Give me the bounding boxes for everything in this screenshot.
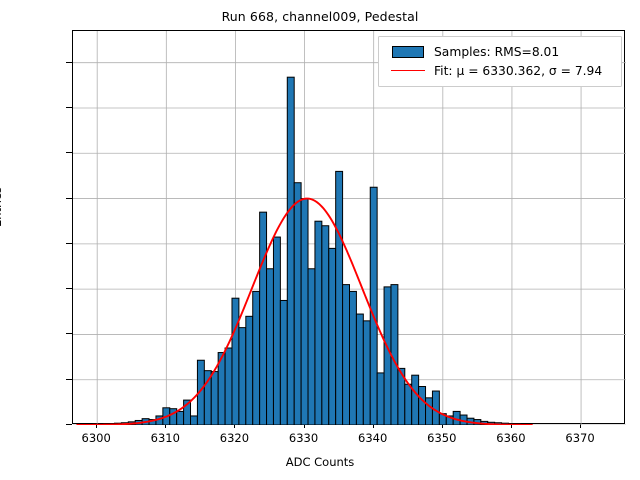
histogram-svg: [73, 31, 626, 425]
histogram-bar: [363, 321, 370, 425]
legend-item-samples: Samples: RMS=8.01: [386, 42, 614, 61]
x-tick-label: 6350: [407, 431, 477, 445]
plot-area: [72, 30, 625, 424]
histogram-bar: [308, 269, 315, 425]
x-tick-label: 6360: [476, 431, 546, 445]
histogram-bar: [280, 300, 287, 425]
histogram-bar: [426, 398, 433, 425]
histogram-bar: [301, 199, 308, 425]
histogram-bar: [356, 314, 363, 425]
histogram-bar: [273, 237, 280, 425]
histogram-bar: [246, 316, 253, 425]
legend-line-icon: [386, 70, 430, 71]
x-axis-label: ADC Counts: [0, 455, 640, 469]
x-tick-label: 6330: [269, 431, 339, 445]
histogram-bar: [315, 221, 322, 425]
histogram-bar: [294, 183, 301, 425]
legend-item-fit: Fit: μ = 6330.362, σ = 7.94: [386, 61, 614, 80]
histogram-bar: [253, 291, 260, 425]
histogram-bar: [225, 348, 232, 425]
histogram-bar: [370, 187, 377, 425]
x-tick-label: 6300: [61, 431, 131, 445]
histogram-bar: [377, 373, 384, 425]
x-tick-label: 6340: [338, 431, 408, 445]
histogram-bar: [343, 285, 350, 425]
histogram-bar: [239, 328, 246, 425]
histogram-bar: [267, 269, 274, 425]
histogram-bar: [336, 171, 343, 425]
histogram-bar: [177, 411, 184, 425]
histogram-bar: [405, 384, 412, 425]
x-tick-label: 6310: [130, 431, 200, 445]
histogram-bar: [232, 298, 239, 425]
histogram-bar: [419, 387, 426, 425]
legend-label-fit: Fit: μ = 6330.362, σ = 7.94: [430, 64, 602, 78]
legend: Samples: RMS=8.01 Fit: μ = 6330.362, σ =…: [378, 36, 622, 87]
y-tick-mark: [66, 424, 72, 425]
y-axis-label: Entries: [0, 187, 4, 227]
histogram-bar: [329, 248, 336, 425]
legend-label-samples: Samples: RMS=8.01: [430, 45, 559, 59]
histogram-bar: [211, 372, 218, 425]
page-title: Run 668, channel009, Pedestal: [0, 9, 640, 24]
histogram-bars: [94, 77, 529, 425]
histogram-bar: [191, 416, 198, 425]
histogram-bar: [260, 212, 267, 425]
legend-patch-icon: [386, 46, 430, 58]
x-tick-label: 6370: [545, 431, 615, 445]
histogram-bar: [350, 291, 357, 425]
histogram-bar: [384, 287, 391, 425]
figure-canvas: Run 668, channel009, Pedestal Entries AD…: [0, 0, 640, 480]
histogram-bar: [322, 226, 329, 425]
histogram-bar: [287, 77, 294, 425]
x-tick-label: 6320: [199, 431, 269, 445]
histogram-bar: [412, 375, 419, 425]
